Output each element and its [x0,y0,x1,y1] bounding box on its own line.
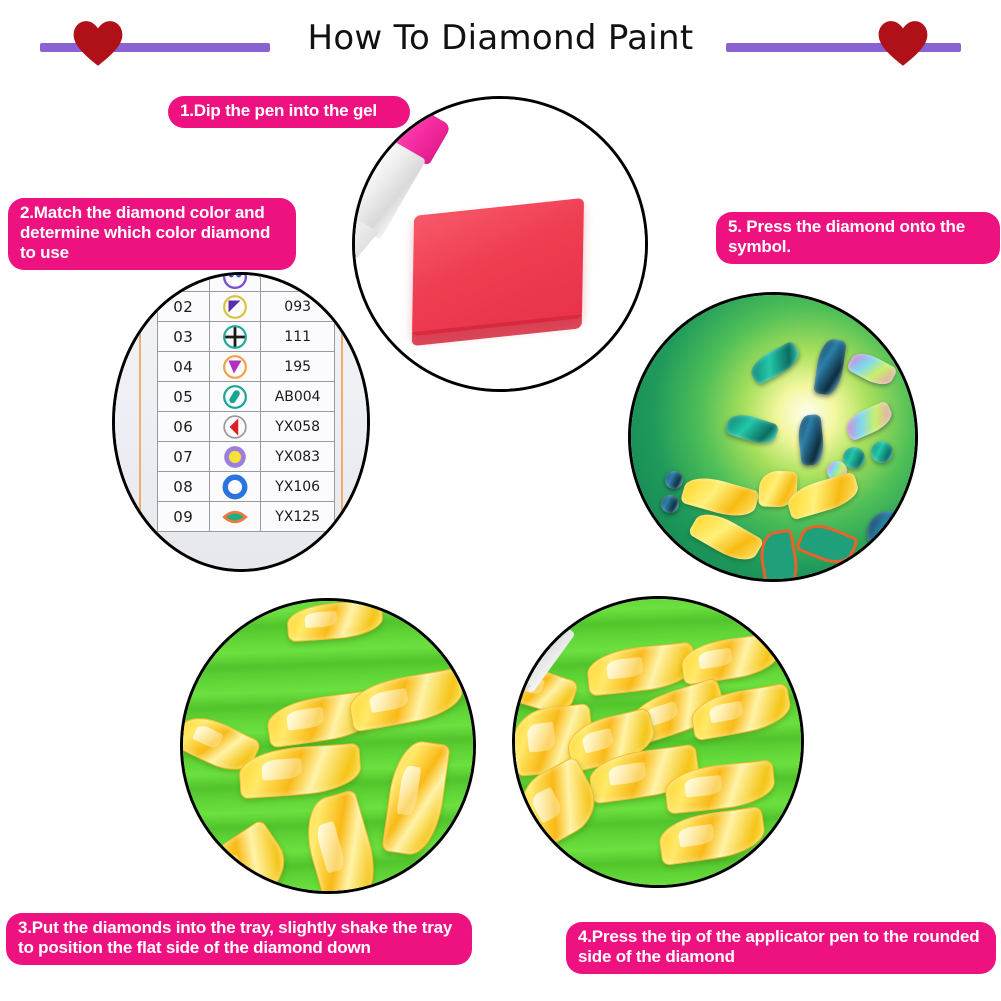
chart-code: 06 [158,412,210,442]
chart-code [158,275,210,292]
chart-code: 07 [158,442,210,472]
chart-color: 111 [261,322,335,352]
slash-oval-icon [222,384,248,410]
gel-pad [412,198,584,336]
chart-color: YX083 [261,442,335,472]
chart-guide-line-left [139,275,141,569]
chart-symbol [209,412,261,442]
chart-symbol [209,382,261,412]
table-row: 05 AB004 [158,382,335,412]
table-row: 06 YX058 [158,412,335,442]
step-4-label: 4.Press the tip of the applicator pen to… [566,922,996,974]
chart-color: 028 [261,275,335,292]
symbol-chart-table: 028 02 093 03 [157,275,335,532]
table-row: 07 YX083 [158,442,335,472]
diamonds-in-green-tray-photo [180,598,476,894]
chart-symbol [209,502,261,532]
pen-picking-diamond-photo [512,596,804,888]
teal-leaf-icon [222,504,248,530]
table-row: 02 093 [158,292,335,322]
table-row: 09 YX125 [158,502,335,532]
triangle-quarter-icon [222,294,248,320]
chart-symbol [209,292,261,322]
double-dot-circle-icon [222,275,248,290]
chart-color: YX125 [261,502,335,532]
chart-symbol [209,442,261,472]
chart-code: 09 [158,502,210,532]
header: How To Diamond Paint [0,0,1001,80]
chart-symbol [209,322,261,352]
step-3-label: 3.Put the diamonds into the tray, slight… [6,913,472,965]
symbol-chart-photo: 028 02 093 03 [112,272,370,572]
step-5-label: 5. Press the diamond onto the symbol. [716,212,1000,264]
chart-color: YX106 [261,472,335,502]
chart-color: AB004 [261,382,335,412]
page-title: How To Diamond Paint [0,18,1001,58]
step-2-label: 2.Match the diamond color and determine … [8,198,296,270]
chart-code: 05 [158,382,210,412]
pen-dipping-in-gel-photo [352,96,648,392]
chart-code: 08 [158,472,210,502]
plus-circle-icon [222,324,248,350]
chart-color: YX058 [261,412,335,442]
infographic-canvas: How To Diamond Paint 1.Dip the pen into … [0,0,1001,1001]
red-chevron-icon [222,414,248,440]
triangle-magenta-icon [222,354,248,380]
chart-symbol [209,352,261,382]
chart-symbol [209,472,261,502]
table-row: 03 111 [158,322,335,352]
blue-ring-icon [222,474,248,500]
table-row: 08 YX106 [158,472,335,502]
table-row: 028 [158,275,335,292]
chart-color: 093 [261,292,335,322]
chart-color: 195 [261,352,335,382]
chart-guide-line-right [341,275,343,569]
yellow-dot-ring-icon [222,444,248,470]
table-row: 04 195 [158,352,335,382]
placing-diamond-on-canvas-photo [628,292,918,582]
chart-symbol [209,275,261,292]
chart-code: 04 [158,352,210,382]
chart-code: 03 [158,322,210,352]
chart-code: 02 [158,292,210,322]
